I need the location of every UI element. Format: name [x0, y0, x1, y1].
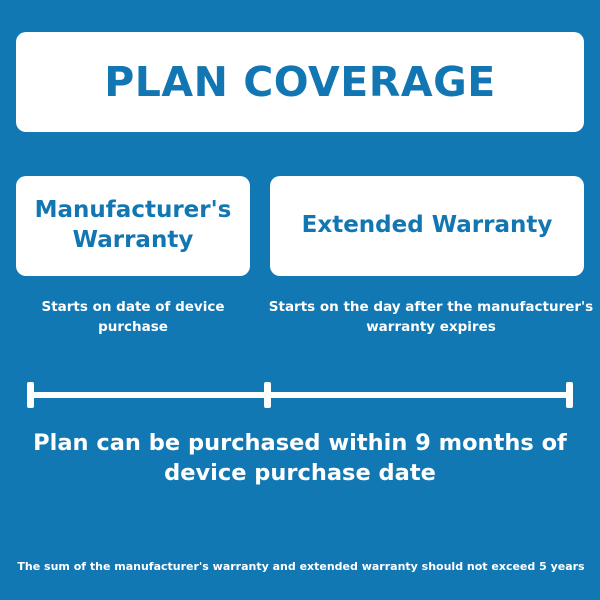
- manufacturer-warranty-title: Manufacturer's Warranty: [24, 196, 242, 256]
- warranty-cards-row: Manufacturer's Warranty Extended Warrant…: [16, 176, 584, 276]
- warranty-captions-row: Starts on date of device purchase Starts…: [16, 298, 584, 350]
- manufacturer-warranty-card: Manufacturer's Warranty: [16, 176, 250, 276]
- coverage-timeline: [20, 382, 580, 408]
- extended-warranty-card: Extended Warranty: [270, 176, 584, 276]
- timeline-end-tick-icon: [566, 382, 573, 408]
- timeline-start-tick-icon: [27, 382, 34, 408]
- purchase-window-note: Plan can be purchased within 9 months of…: [22, 428, 578, 489]
- extended-warranty-title: Extended Warranty: [302, 211, 553, 241]
- footnote-text: The sum of the manufacturer's warranty a…: [16, 560, 586, 574]
- extended-warranty-caption: Starts on the day after the manufacturer…: [266, 298, 596, 337]
- plan-coverage-infographic: PLAN COVERAGE Manufacturer's Warranty Ex…: [0, 0, 600, 600]
- timeline-bar: [30, 392, 570, 398]
- manufacturer-warranty-caption: Starts on date of device purchase: [16, 298, 250, 337]
- page-title: PLAN COVERAGE: [104, 62, 496, 103]
- timeline-middle-tick-icon: [264, 382, 271, 408]
- title-card: PLAN COVERAGE: [16, 32, 584, 132]
